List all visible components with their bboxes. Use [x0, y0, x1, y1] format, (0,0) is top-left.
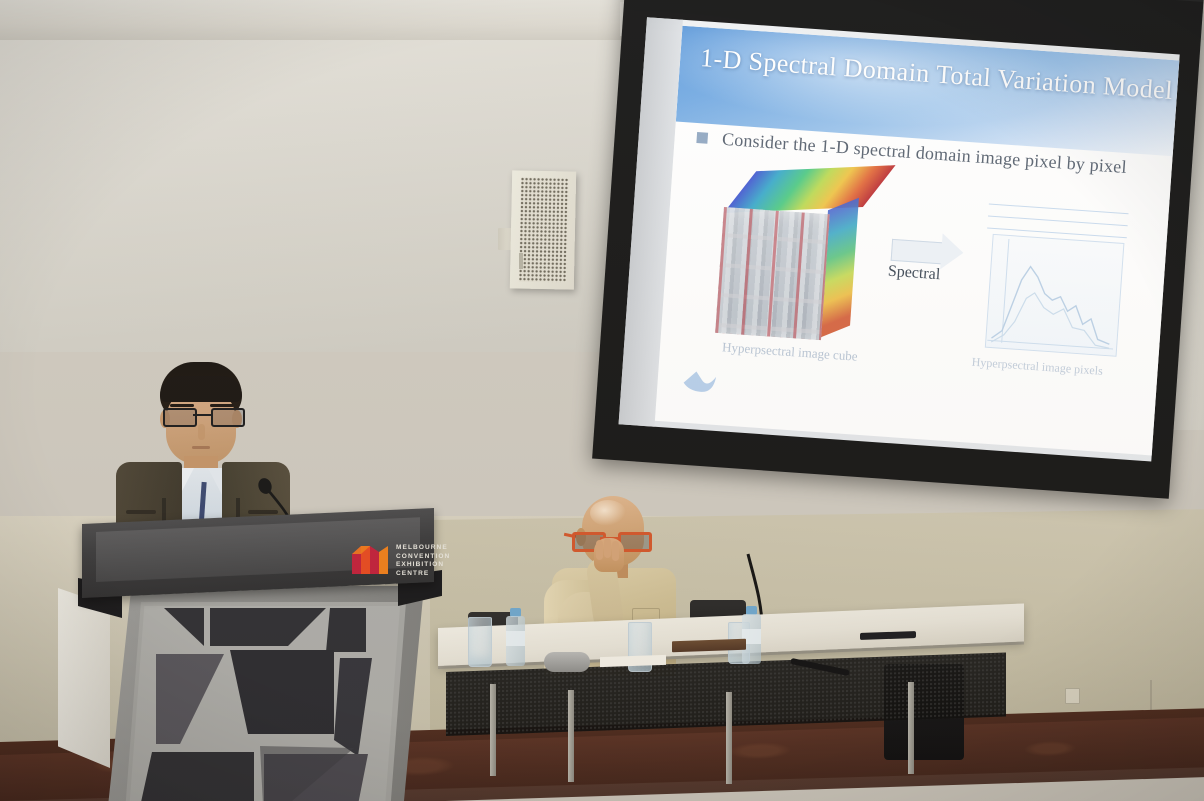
presenter-pocket-left [126, 510, 156, 514]
photo-scene: 1-D Spectral Domain Total Variation Mode… [0, 0, 1204, 801]
lectern-side-panel [58, 588, 110, 768]
slide-footer-logo-icon [681, 365, 723, 398]
spectral-plots-figure: Hyperpsectral image pixels [970, 193, 1141, 370]
venue-logo-line1: MELBOURNE [396, 544, 450, 553]
venue-logo-line3: EXHIBITION [396, 561, 450, 570]
spectral-arrow-label: Spectral [887, 263, 941, 285]
water-bottle-right [742, 606, 761, 664]
plot-stack-line [989, 204, 1129, 215]
glasses-bridge [193, 414, 211, 416]
presenter-nose [198, 424, 205, 440]
finger [604, 538, 611, 558]
finger [612, 541, 619, 561]
projected-slide: 1-D Spectral Domain Total Variation Mode… [655, 26, 1179, 456]
cube-top-face [724, 165, 896, 213]
presenter-fringe [160, 376, 242, 402]
seated-head-highlight [590, 500, 626, 526]
seated-hand-on-chin [594, 538, 624, 572]
bottle-label [506, 631, 525, 646]
venue-logo-line4: CENTRE [396, 570, 450, 579]
table-leg [908, 682, 914, 774]
venue-logo: MELBOURNE CONVENTION EXHIBITION CENTRE [350, 536, 468, 584]
water-glass-left [468, 617, 492, 667]
lens-left [163, 408, 197, 427]
projection-screen: 1-D Spectral Domain Total Variation Mode… [592, 0, 1204, 503]
wall-speaker [510, 170, 576, 289]
presenter-glasses-icon [163, 408, 241, 423]
venue-logo-line2: CONVENTION [396, 553, 450, 562]
table-leg [490, 684, 496, 776]
lectern-geometric-artwork [128, 606, 400, 801]
spectral-arrow-head-icon [940, 233, 964, 270]
venue-logo-text: MELBOURNE CONVENTION EXHIBITION CENTRE [396, 544, 450, 578]
presenter-brow-left [170, 404, 194, 407]
lens-right [211, 408, 245, 427]
table-leg [568, 690, 574, 782]
bullet-square-icon [696, 132, 708, 144]
plots-caption: Hyperpsectral image pixels [971, 355, 1172, 384]
presenter-remote-device[interactable] [544, 652, 590, 672]
venue-logo-mark-icon [350, 540, 390, 580]
wall-outlet [1065, 688, 1080, 704]
presenter-mouth [192, 446, 210, 449]
speaker-mount-tab [519, 253, 523, 269]
cube-caption: Hyperpsectral image cube [722, 339, 903, 368]
plot-stack-line [988, 215, 1128, 226]
water-bottle-left [506, 608, 525, 666]
lectern: MELBOURNE CONVENTION EXHIBITION CENTRE [58, 524, 440, 801]
geometric-pattern-icon [128, 606, 400, 801]
presenter-brow-right [210, 404, 234, 407]
spectral-arrow-body [891, 239, 945, 265]
table-leg [726, 692, 732, 784]
cube-front-overlay [715, 207, 830, 340]
finger [596, 540, 603, 560]
hyperspectral-cube-figure: Hyperpsectral image cube [706, 169, 878, 360]
spectral-curve [985, 234, 1122, 355]
speaker-grille-icon [519, 178, 569, 283]
